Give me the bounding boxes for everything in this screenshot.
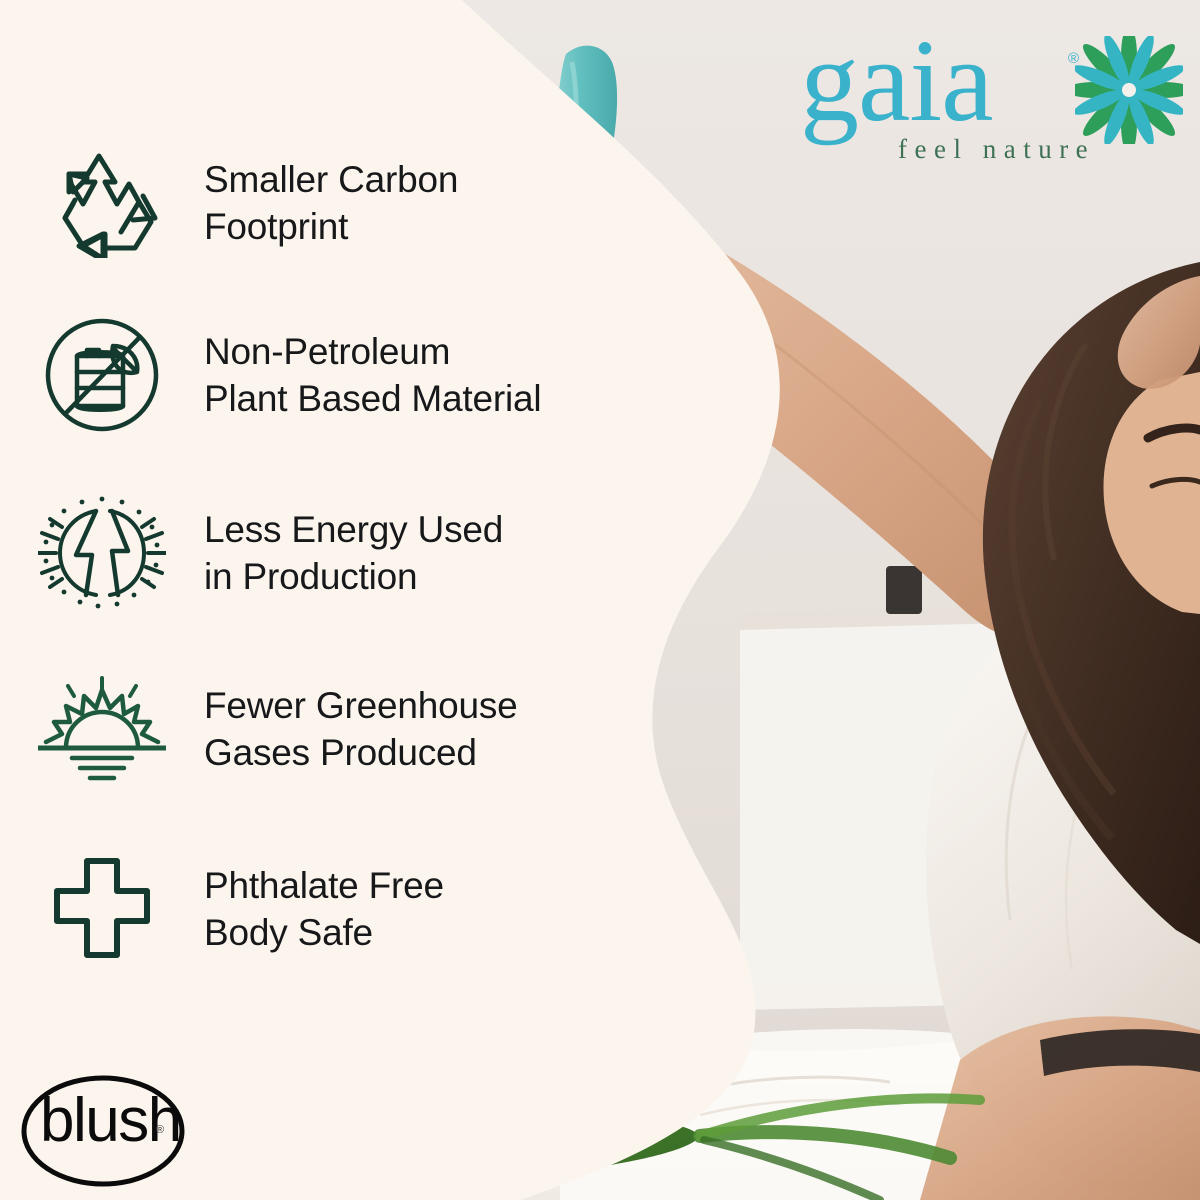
flower-burst-icon — [1075, 36, 1183, 149]
gaia-wordmark: gaia — [800, 22, 993, 140]
energy-bolt-icon — [38, 493, 166, 613]
recycle-icon — [38, 148, 166, 258]
gaia-brand-logo: gaia ® feel nature — [800, 28, 1180, 176]
feature-label: Fewer Greenhouse Gases Produced — [204, 682, 518, 777]
feature-list: Smaller Carbon Footprint — [0, 128, 620, 984]
no-petroleum-icon — [38, 316, 166, 434]
feature-item-smaller-carbon-footprint: Smaller Carbon Footprint — [0, 128, 620, 278]
feature-item-less-energy: Less Energy Used in Production — [0, 478, 620, 628]
feature-item-non-petroleum: Non-Petroleum Plant Based Material — [0, 300, 620, 450]
sunrise-icon — [38, 676, 166, 782]
blush-company-logo: blush ® — [18, 1072, 188, 1190]
gaia-tagline: feel nature — [898, 134, 1095, 165]
feature-item-fewer-greenhouse-gases: Fewer Greenhouse Gases Produced — [0, 654, 620, 804]
product-infographic: Smaller Carbon Footprint — [0, 0, 1200, 1200]
feature-item-phthalate-free: Phthalate Free Body Safe — [0, 834, 620, 984]
blush-wordmark: blush — [40, 1090, 181, 1152]
feature-label: Less Energy Used in Production — [204, 506, 503, 601]
feature-label: Smaller Carbon Footprint — [204, 156, 458, 251]
blush-registered-mark: ® — [156, 1124, 164, 1136]
photo-candle — [886, 566, 922, 614]
feature-label: Phthalate Free Body Safe — [204, 862, 444, 957]
medical-cross-icon — [38, 857, 166, 961]
feature-label: Non-Petroleum Plant Based Material — [204, 328, 541, 423]
